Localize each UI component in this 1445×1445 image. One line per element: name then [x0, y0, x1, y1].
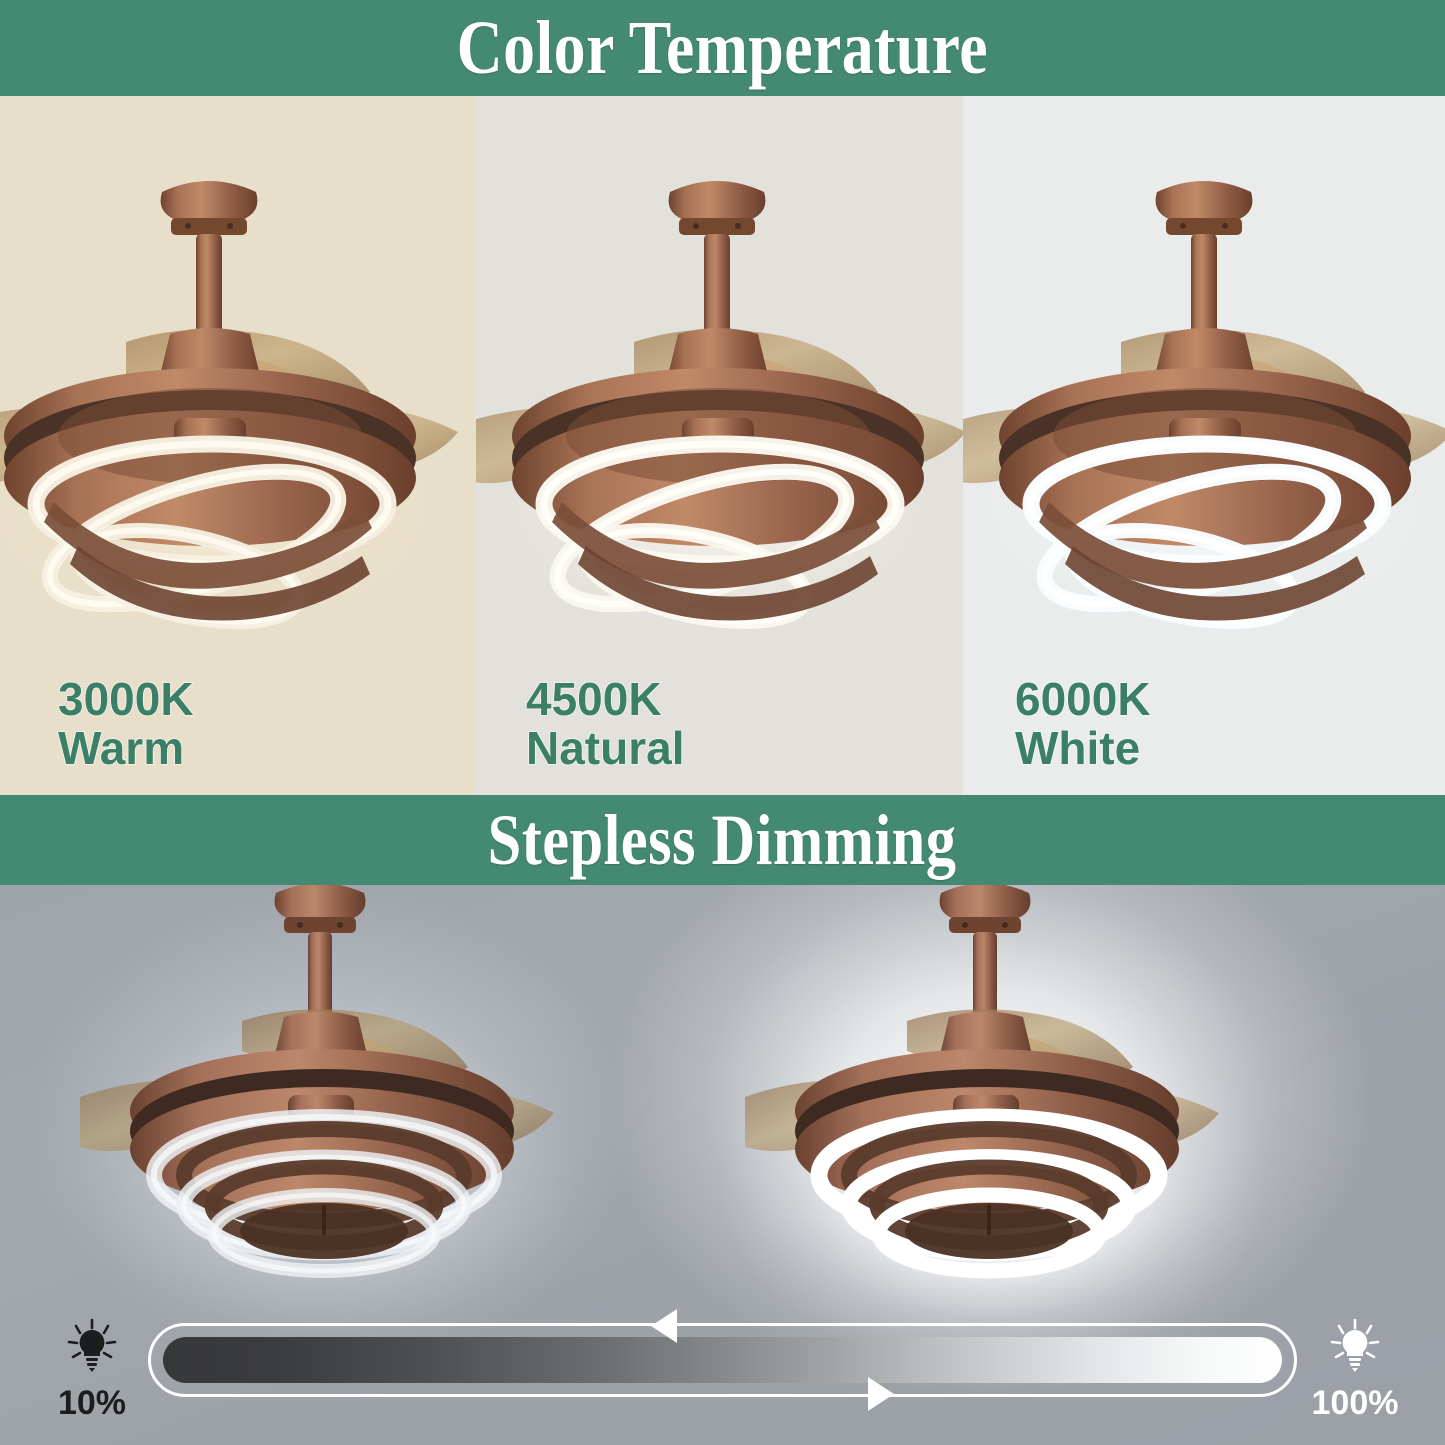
ceiling-fan-light-dim-icon [60, 885, 620, 1355]
color-temperature-panel-6000k: 6000K White [963, 96, 1445, 795]
color-temperature-banner: Color Temperature [0, 0, 1445, 96]
arrow-left-icon [651, 1309, 677, 1343]
ceiling-fan-light-icon [963, 106, 1445, 666]
stepless-dimming-title: Stepless Dimming [488, 799, 957, 882]
color-temperature-panel-3000k: 3000K Warm [0, 96, 476, 795]
bulb-dim-icon [62, 1317, 122, 1377]
tone-label-natural: Natural [526, 724, 684, 773]
tone-label-white: White [1015, 724, 1151, 773]
product-infographic: Color Temperature [0, 0, 1445, 1445]
tone-label-warm: Warm [58, 724, 194, 773]
max-brightness-label: 100% [1295, 1384, 1415, 1423]
dim-level-max: 100% [1295, 1317, 1415, 1423]
stepless-dimming-banner: Stepless Dimming [0, 795, 1445, 885]
color-temperature-title: Color Temperature [457, 5, 988, 92]
caption-3000k: 3000K Warm [58, 675, 194, 773]
caption-4500k: 4500K Natural [526, 675, 684, 773]
min-brightness-label: 10% [32, 1384, 152, 1423]
stepless-dimming-section: 10% [0, 885, 1445, 1445]
dimming-slider-gradient[interactable] [163, 1337, 1282, 1383]
arrow-right-icon [868, 1377, 894, 1411]
bulb-bright-icon [1325, 1317, 1385, 1377]
kelvin-label-3000k: 3000K [58, 675, 194, 724]
color-temperature-section: 3000K Warm [0, 96, 1445, 795]
kelvin-label-4500k: 4500K [526, 675, 684, 724]
dimming-slider-row: 10% [0, 1317, 1445, 1435]
dimming-slider[interactable] [148, 1323, 1297, 1397]
dim-level-min: 10% [32, 1317, 152, 1423]
caption-6000k: 6000K White [1015, 675, 1151, 773]
color-temperature-panel-4500k: 4500K Natural [476, 96, 963, 795]
kelvin-label-6000k: 6000K [1015, 675, 1151, 724]
ceiling-fan-light-icon [0, 106, 476, 666]
ceiling-fan-light-icon [476, 106, 963, 666]
ceiling-fan-light-bright-icon [725, 885, 1285, 1355]
